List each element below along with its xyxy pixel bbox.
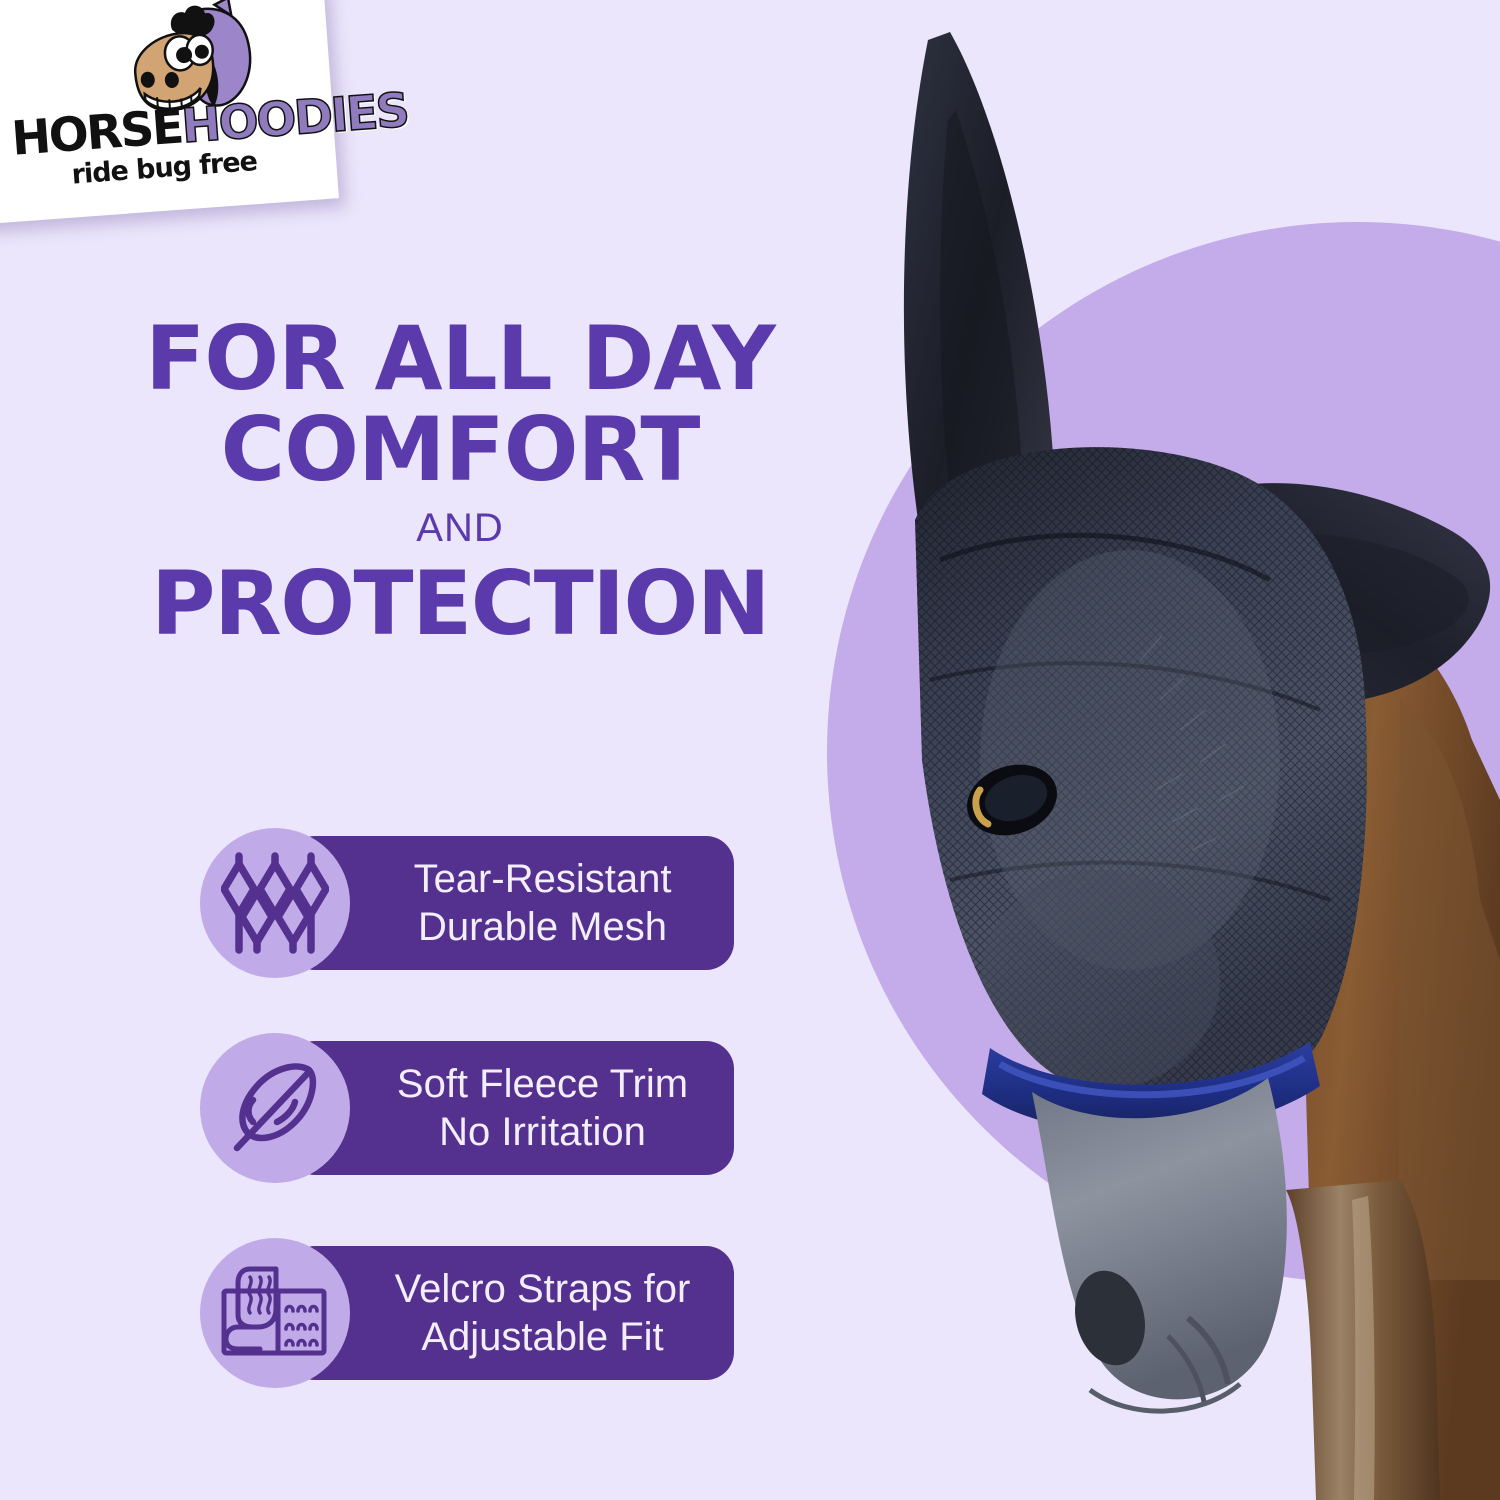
feature-item-fleece[interactable]: Soft Fleece Trim No Irritation (0, 1033, 800, 1183)
feature-item-velcro[interactable]: Velcro Straps for Adjustable Fit (0, 1238, 800, 1388)
page-title: FOR ALL DAY COMFORT AND PROTECTION (60, 316, 860, 649)
product-photo (800, 0, 1500, 1500)
feature-pill[interactable]: Velcro Straps for Adjustable Fit (287, 1246, 734, 1380)
feature-item-mesh[interactable]: Tear-Resistant Durable Mesh (0, 828, 800, 978)
headline-line-2: COMFORT (60, 402, 860, 497)
brand-logo-panel[interactable]: HORSEHOODIES ride bug free (0, 0, 339, 225)
brand-wordmark: HORSEHOODIES ride bug free (10, 94, 315, 193)
mesh-lattice-icon (200, 828, 350, 978)
feature-pill[interactable]: Tear-Resistant Durable Mesh (287, 836, 734, 970)
feather-icon (200, 1033, 350, 1183)
feature-label: Tear-Resistant Durable Mesh (336, 855, 686, 951)
feature-label: Velcro Straps for Adjustable Fit (317, 1265, 705, 1361)
headline-line-1: FOR ALL DAY (60, 316, 860, 402)
headline-connector: AND (60, 497, 860, 559)
velcro-strap-icon (200, 1238, 350, 1388)
headline-line-3: PROTECTION (60, 559, 860, 649)
feature-pill[interactable]: Soft Fleece Trim No Irritation (287, 1041, 734, 1175)
feature-list: Tear-Resistant Durable Mesh (0, 828, 800, 1443)
product-infographic: HORSEHOODIES ride bug free FOR ALL DAY C… (0, 0, 1500, 1500)
feature-label: Soft Fleece Trim No Irritation (319, 1060, 702, 1156)
